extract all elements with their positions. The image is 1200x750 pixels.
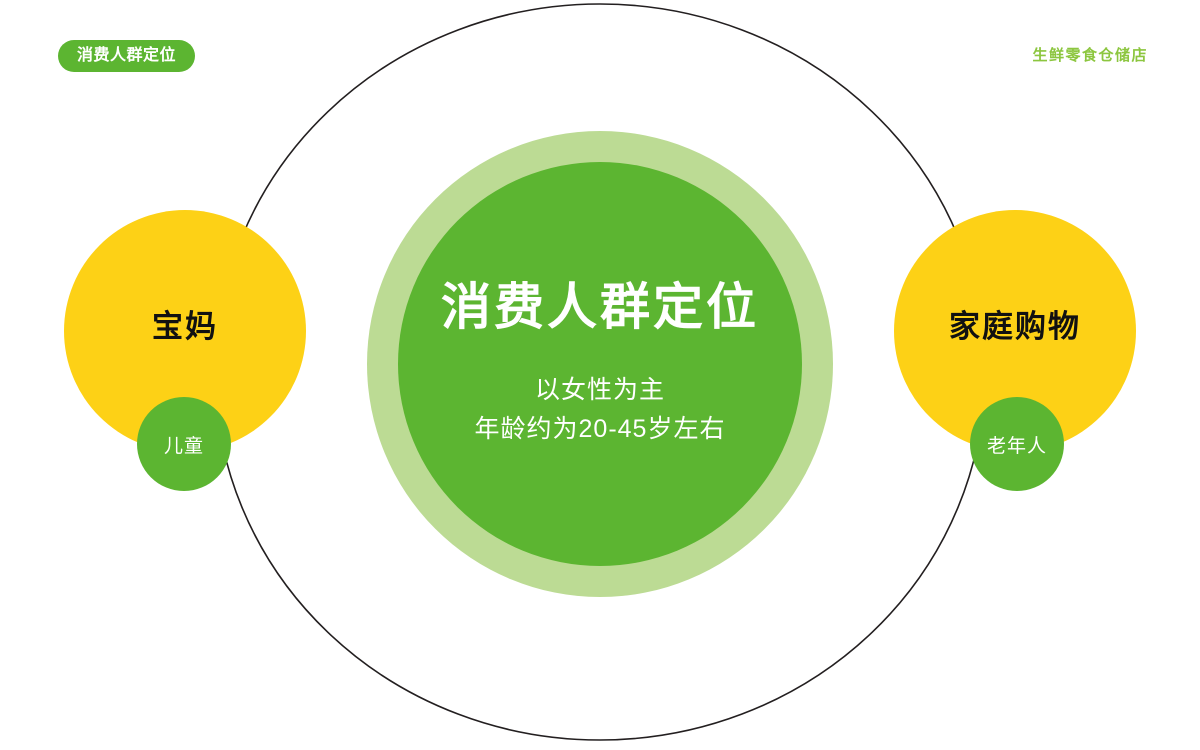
node-jiating-sub-label: 老年人 <box>987 431 1047 458</box>
center-core-circle: 消费人群定位 以女性为主 年龄约为20-45岁左右 <box>398 162 802 566</box>
center-node: 消费人群定位 以女性为主 年龄约为20-45岁左右 <box>367 131 833 597</box>
infographic-canvas: 消费人群定位 生鲜零食仓储店 消费人群定位 以女性为主 年龄约为20-45岁左右… <box>0 0 1200 750</box>
node-baoma-sub-label: 儿童 <box>164 431 204 458</box>
node-jiating-sub-circle[interactable]: 老年人 <box>970 397 1064 491</box>
center-subtitle-line-1: 以女性为主 <box>535 371 665 410</box>
brand-caption: 生鲜零食仓储店 <box>1032 44 1148 65</box>
node-baoma-main-label: 宝妈 <box>152 301 218 346</box>
center-subtitle-line-2: 年龄约为20-45岁左右 <box>475 410 726 449</box>
center-title: 消费人群定位 <box>441 280 759 335</box>
node-baoma-sub-circle[interactable]: 儿童 <box>137 397 231 491</box>
node-jiating-main-label: 家庭购物 <box>949 301 1081 346</box>
section-badge: 消费人群定位 <box>58 40 195 72</box>
